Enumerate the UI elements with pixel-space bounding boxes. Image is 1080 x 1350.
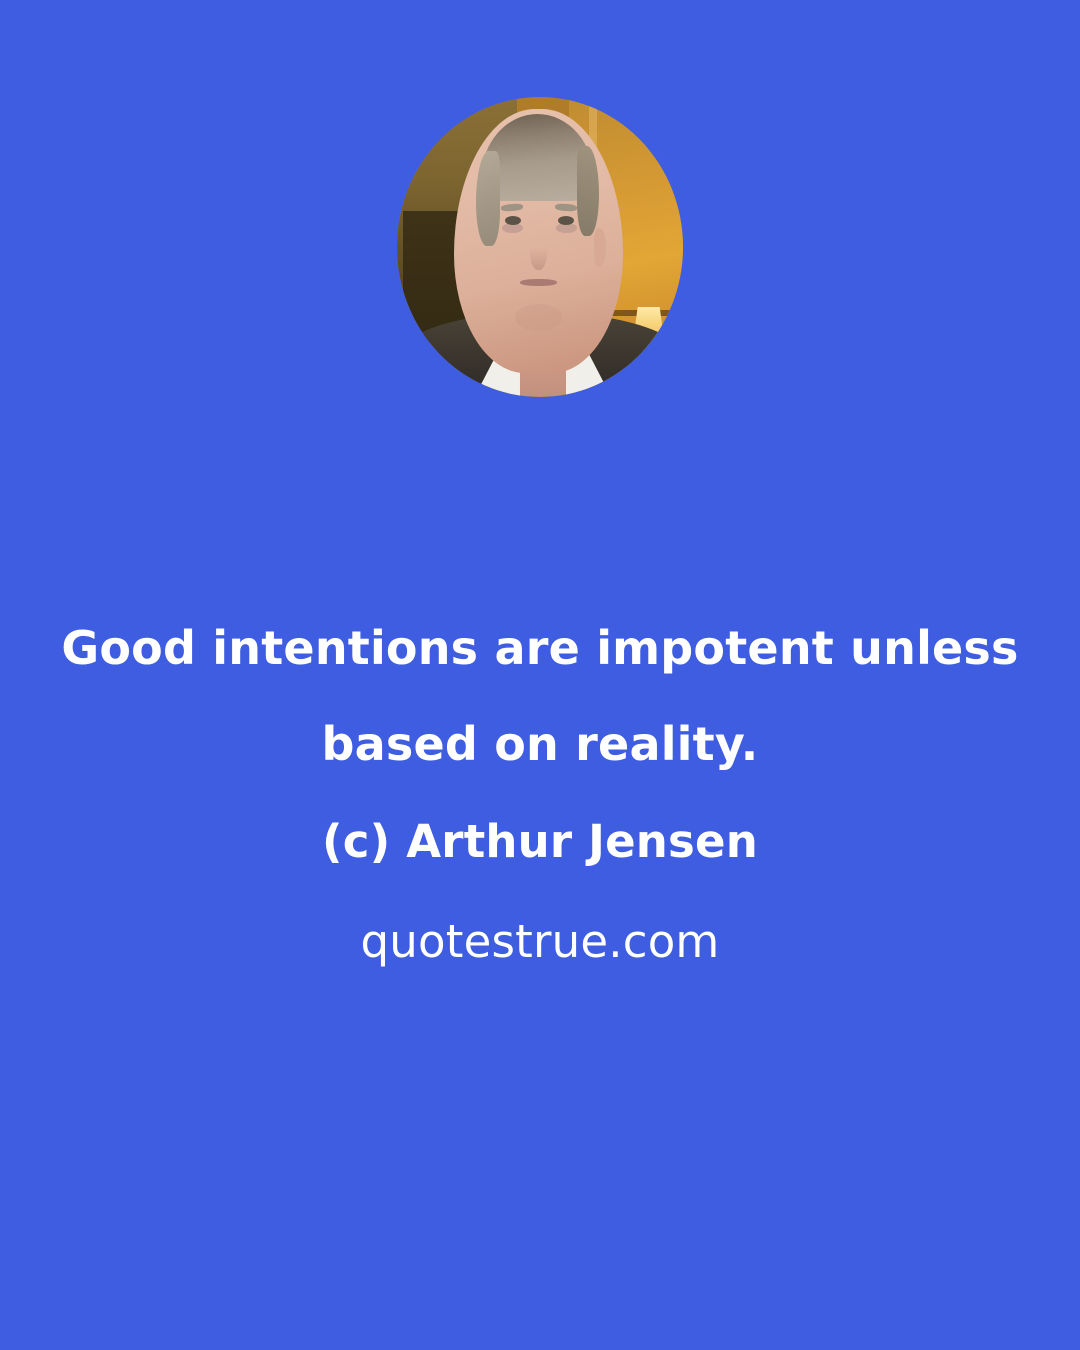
author-portrait-avatar <box>397 97 683 397</box>
portrait-eye-right <box>558 216 574 225</box>
quote-text-block: Good intentions are impotent unless base… <box>0 600 1080 992</box>
portrait-chin <box>515 304 562 330</box>
portrait-mouth <box>520 279 557 286</box>
portrait-eye-left <box>505 216 521 225</box>
portrait-eyebrow-right <box>555 203 577 211</box>
portrait-nose <box>530 233 547 270</box>
source-website: quotestrue.com <box>0 892 1080 992</box>
portrait-image <box>397 97 683 397</box>
portrait-hair-left <box>476 151 500 246</box>
portrait-ear-right <box>594 228 606 268</box>
quote-line-2: based on reality. <box>0 696 1080 792</box>
portrait-hair-right <box>577 146 599 236</box>
quote-attribution: (c) Arthur Jensen <box>0 792 1080 892</box>
portrait-head <box>454 109 623 373</box>
quote-card: Good intentions are impotent unless base… <box>0 0 1080 1350</box>
portrait-eyebrow-left <box>501 203 523 212</box>
quote-line-1: Good intentions are impotent unless <box>0 600 1080 696</box>
